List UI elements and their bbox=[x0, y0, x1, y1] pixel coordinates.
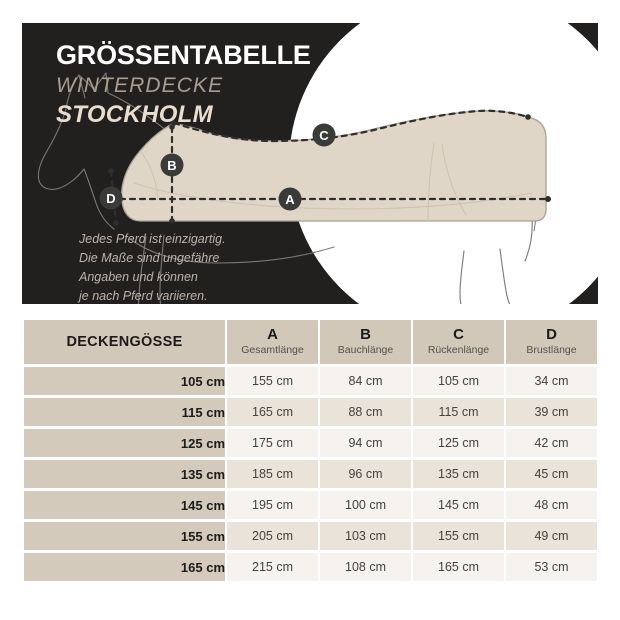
row-value-b: 100 cm bbox=[320, 491, 411, 519]
header-letter-c: C bbox=[413, 327, 504, 343]
header-letter-d: D bbox=[506, 327, 597, 343]
row-value-b: 108 cm bbox=[320, 553, 411, 581]
row-value-a: 205 cm bbox=[227, 522, 318, 550]
product-model-name: STOCKHOLM bbox=[56, 101, 346, 129]
row-value-b: 94 cm bbox=[320, 429, 411, 457]
size-chart-page: GRÖSSENTABELLE WINTERDECKE STOCKHOLM Jed… bbox=[0, 0, 620, 620]
disclaimer-line-2: Die Maße sind ungefähre bbox=[79, 249, 226, 268]
table-row: 155 cm 205 cm 103 cm 155 cm 49 cm bbox=[24, 522, 597, 550]
header-column-b: B Bauchlänge bbox=[320, 320, 411, 364]
hero-title-block: GRÖSSENTABELLE WINTERDECKE STOCKHOLM bbox=[56, 41, 346, 128]
row-size: 135 cm bbox=[24, 460, 225, 488]
header-column-d: D Brustlänge bbox=[506, 320, 597, 364]
header-letter-a: A bbox=[227, 327, 318, 343]
row-value-d: 39 cm bbox=[506, 398, 597, 426]
row-value-a: 155 cm bbox=[227, 367, 318, 395]
header-label-c: Rückenlänge bbox=[413, 344, 504, 358]
row-value-c: 125 cm bbox=[413, 429, 504, 457]
header-size-name: DECKENGÖSSE bbox=[24, 320, 225, 364]
disclaimer-line-1: Jedes Pferd ist einzigartig. bbox=[79, 230, 226, 249]
size-table: DECKENGÖSSE A Gesamtlänge B Bauchlänge C… bbox=[22, 317, 599, 584]
header-column-a: A Gesamtlänge bbox=[227, 320, 318, 364]
table-row: 165 cm 215 cm 108 cm 165 cm 53 cm bbox=[24, 553, 597, 581]
row-value-c: 135 cm bbox=[413, 460, 504, 488]
header-letter-b: B bbox=[320, 327, 411, 343]
row-size: 105 cm bbox=[24, 367, 225, 395]
disclaimer-line-4: je nach Pferd variieren. bbox=[79, 287, 226, 304]
row-value-c: 145 cm bbox=[413, 491, 504, 519]
table-row: 105 cm 155 cm 84 cm 105 cm 34 cm bbox=[24, 367, 597, 395]
row-value-d: 48 cm bbox=[506, 491, 597, 519]
page-subtitle: WINTERDECKE bbox=[56, 73, 346, 99]
row-size: 155 cm bbox=[24, 522, 225, 550]
row-value-b: 84 cm bbox=[320, 367, 411, 395]
row-value-d: 49 cm bbox=[506, 522, 597, 550]
row-size: 115 cm bbox=[24, 398, 225, 426]
row-size: 125 cm bbox=[24, 429, 225, 457]
row-value-d: 53 cm bbox=[506, 553, 597, 581]
row-value-a: 165 cm bbox=[227, 398, 318, 426]
row-value-a: 175 cm bbox=[227, 429, 318, 457]
header-label-d: Brustlänge bbox=[506, 344, 597, 358]
row-size: 145 cm bbox=[24, 491, 225, 519]
header-label-a: Gesamtlänge bbox=[227, 344, 318, 358]
table-row: 135 cm 185 cm 96 cm 135 cm 45 cm bbox=[24, 460, 597, 488]
row-value-d: 45 cm bbox=[506, 460, 597, 488]
row-value-d: 42 cm bbox=[506, 429, 597, 457]
row-value-d: 34 cm bbox=[506, 367, 597, 395]
hero-panel: GRÖSSENTABELLE WINTERDECKE STOCKHOLM Jed… bbox=[22, 23, 598, 304]
row-value-a: 185 cm bbox=[227, 460, 318, 488]
table-row: 115 cm 165 cm 88 cm 115 cm 39 cm bbox=[24, 398, 597, 426]
row-value-b: 96 cm bbox=[320, 460, 411, 488]
table-row: 125 cm 175 cm 94 cm 125 cm 42 cm bbox=[24, 429, 597, 457]
disclaimer-text: Jedes Pferd ist einzigartig. Die Maße si… bbox=[79, 230, 226, 304]
row-size: 165 cm bbox=[24, 553, 225, 581]
row-value-c: 115 cm bbox=[413, 398, 504, 426]
row-value-c: 155 cm bbox=[413, 522, 504, 550]
page-title: GRÖSSENTABELLE bbox=[56, 41, 346, 69]
header-label-b: Bauchlänge bbox=[320, 344, 411, 358]
row-value-a: 195 cm bbox=[227, 491, 318, 519]
row-value-b: 103 cm bbox=[320, 522, 411, 550]
row-value-b: 88 cm bbox=[320, 398, 411, 426]
disclaimer-line-3: Angaben und können bbox=[79, 268, 226, 287]
header-column-c: C Rückenlänge bbox=[413, 320, 504, 364]
table-row: 145 cm 195 cm 100 cm 145 cm 48 cm bbox=[24, 491, 597, 519]
row-value-c: 165 cm bbox=[413, 553, 504, 581]
row-value-a: 215 cm bbox=[227, 553, 318, 581]
table-header-row: DECKENGÖSSE A Gesamtlänge B Bauchlänge C… bbox=[24, 320, 597, 364]
row-value-c: 105 cm bbox=[413, 367, 504, 395]
